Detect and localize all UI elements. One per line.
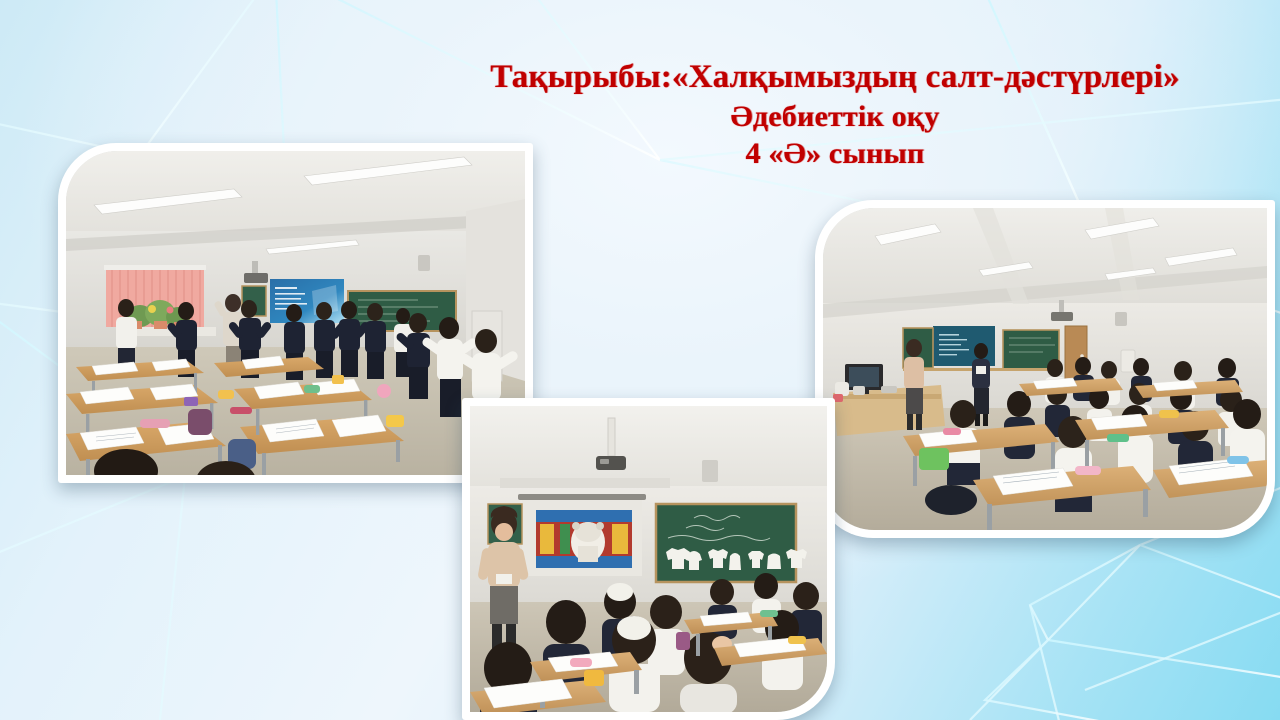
title-line-class: 4 «Ә» сынып — [400, 136, 1270, 171]
presentation-slide: Тақырыбы:«Халқымыздың салт-дәстүрлері» Ә… — [0, 0, 1280, 720]
title-line-subject: Әдебиеттік оқу — [400, 99, 1270, 134]
title-line-topic: Тақырыбы:«Халқымыздың салт-дәстүрлері» — [400, 58, 1270, 97]
photo-classroom-students-seated — [815, 200, 1275, 538]
photo-2-image — [823, 208, 1267, 530]
photo-teacher-presenting — [462, 398, 835, 720]
slide-title: Тақырыбы:«Халқымыздың салт-дәстүрлері» Ә… — [400, 58, 1270, 172]
photo-1-image — [66, 151, 525, 475]
photo-3-image — [470, 406, 827, 712]
